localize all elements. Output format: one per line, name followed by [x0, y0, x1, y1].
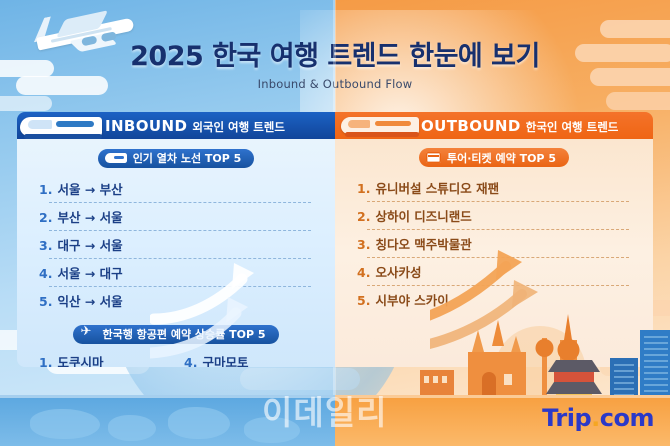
- list-item-label: 부산 → 서울: [57, 207, 122, 226]
- ktx-train-icon: [20, 108, 100, 142]
- list-item: 1. 유니버설 스튜디오 재팬: [349, 174, 639, 201]
- list-item-label: 도쿠시마: [57, 352, 103, 367]
- list-item-label: 오사카성: [375, 262, 421, 281]
- list-item: 1. 서울 → 부산: [31, 175, 321, 202]
- outbound-section-1-pill-row: 투어·티켓 예약 TOP 5: [335, 148, 653, 167]
- list-item-number: 1.: [39, 182, 52, 197]
- list-item-number: 4.: [357, 265, 370, 280]
- list-item: 2. 상하이 디즈니랜드: [349, 202, 639, 229]
- pill-label: 투어·티켓 예약 TOP 5: [447, 150, 556, 166]
- list-item-number: 3.: [39, 238, 52, 253]
- list-item-number: 2.: [357, 209, 370, 224]
- ktx-train-icon: [341, 109, 417, 141]
- train-icon: [105, 153, 127, 163]
- world-map-shape: [168, 407, 230, 439]
- watermark-edaily: 이데일리: [262, 386, 387, 434]
- world-map-shape: [30, 409, 100, 439]
- list-item-number: 2.: [39, 210, 52, 225]
- list-item: 3. 대구 → 서울: [31, 231, 321, 258]
- inbound-subtitle: 외국인 여행 트렌드: [192, 120, 285, 134]
- trip-com-logo[interactable]: Trip.com: [542, 404, 654, 432]
- world-map-shape: [108, 415, 156, 441]
- list-item-label: 상하이 디즈니랜드: [375, 206, 471, 225]
- outbound-subtitle: 한국인 여행 트렌드: [526, 120, 619, 134]
- inbound-section-1-pill-row: 인기 열차 노선 TOP 5: [17, 148, 335, 168]
- list-item-number: 3.: [357, 237, 370, 252]
- list-item-label: 서울 → 부산: [57, 179, 122, 198]
- list-item-label: 익산 → 서울: [57, 291, 122, 310]
- city-skyline-illustration: [420, 300, 670, 410]
- outbound-title: OUTBOUND: [421, 117, 521, 135]
- list-item-label: 서울 → 대구: [57, 263, 122, 282]
- list-item-label: 대구 → 서울: [57, 235, 122, 254]
- infographic-canvas: 2025 한국 여행 트렌드 한눈에 보기 Inbound & Outbound…: [0, 0, 670, 446]
- ticket-icon: [426, 152, 441, 163]
- list-item-label: 유니버설 스튜디오 재팬: [375, 178, 499, 197]
- list-item-number: 1.: [39, 355, 52, 367]
- list-item-number: 4.: [39, 266, 52, 281]
- pill-popular-train-routes[interactable]: 인기 열차 노선 TOP 5: [98, 149, 255, 168]
- inbound-title: INBOUND: [105, 117, 187, 135]
- cloud-icon: [606, 92, 670, 110]
- logo-dot: .: [591, 404, 600, 432]
- airplane-icon: [80, 328, 96, 340]
- list-item-number: 5.: [39, 294, 52, 309]
- list-item-number: 1.: [357, 181, 370, 196]
- inbound-flow-arrows: [150, 255, 280, 365]
- logo-suffix: com: [600, 404, 654, 432]
- list-item-number: 5.: [357, 293, 370, 308]
- pill-label: 인기 열차 노선 TOP 5: [133, 150, 242, 166]
- pill-tour-ticket-bookings[interactable]: 투어·티켓 예약 TOP 5: [419, 148, 569, 167]
- list-item: 2. 부산 → 서울: [31, 203, 321, 230]
- logo-text: Trip: [542, 404, 591, 432]
